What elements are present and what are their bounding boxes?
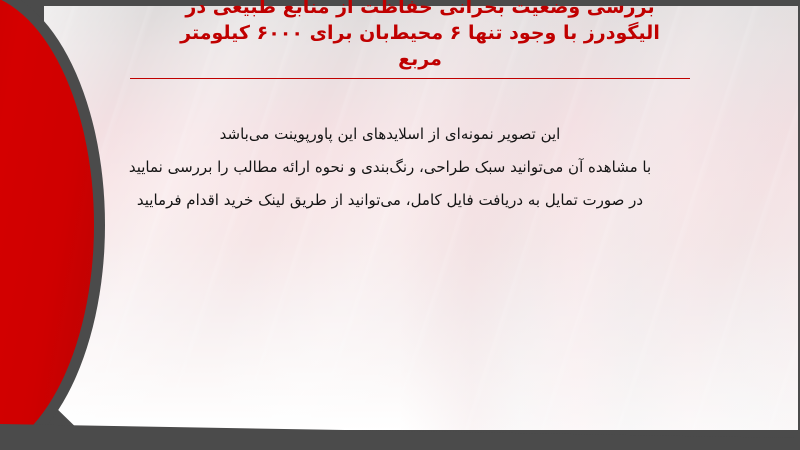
title-line-3: مربع [120, 46, 720, 72]
title-line-1: بررسی وضعیت بحرانی حفاظت از منابع طبیعی … [120, 0, 720, 20]
title-divider-rule [130, 78, 690, 79]
body-line-3: در صورت تمایل به دریافت فایل کامل، می‌تو… [90, 184, 690, 217]
slide-title: بررسی وضعیت بحرانی حفاظت از منابع طبیعی … [120, 0, 720, 72]
body-line-1: این تصویر نمونه‌ای از اسلایدهای این پاور… [90, 118, 690, 151]
body-line-2: با مشاهده آن می‌توانید سبک طراحی، رنگ‌بن… [90, 151, 690, 184]
presentation-slide: بررسی وضعیت بحرانی حفاظت از منابع طبیعی … [0, 0, 800, 450]
title-line-2: الیگودرز با وجود تنها ۶ محیط‌بان برای ۶۰… [120, 20, 720, 46]
slide-body-text: این تصویر نمونه‌ای از اسلایدهای این پاور… [90, 118, 690, 217]
